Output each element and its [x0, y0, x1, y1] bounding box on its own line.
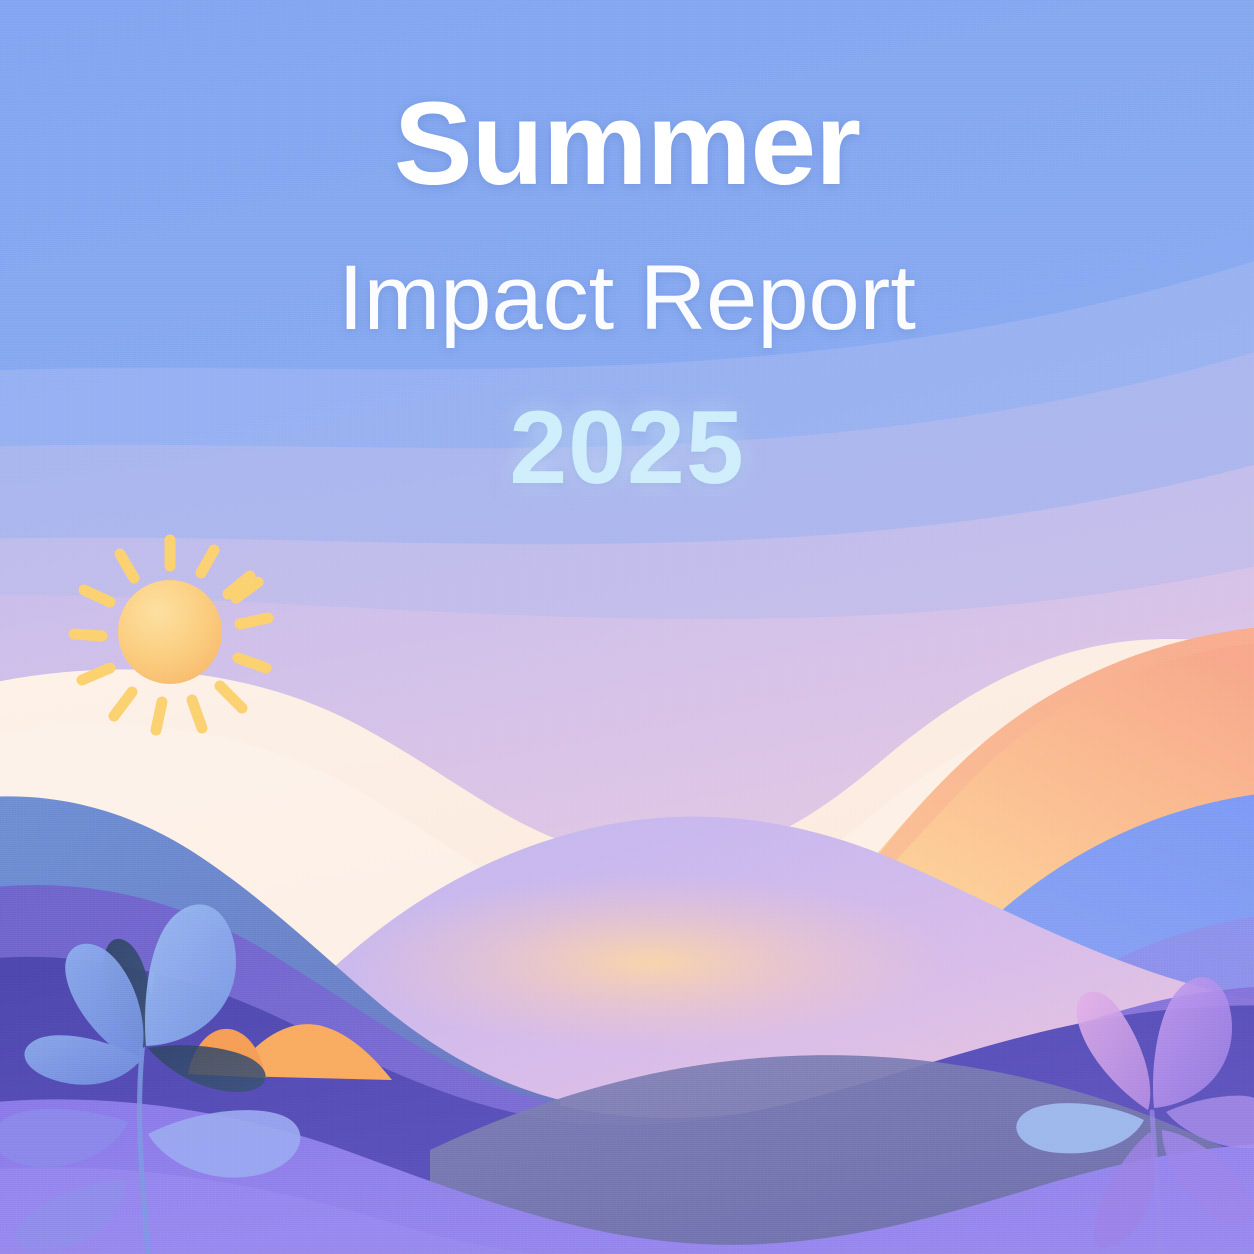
poster-canvas: Summer Impact Report 2025	[0, 0, 1254, 1254]
sun-ray	[156, 702, 162, 730]
sun-ray	[240, 618, 268, 624]
page-title-secondary: Impact Report	[0, 252, 1254, 344]
sun-disc	[118, 580, 222, 684]
sun-ray	[74, 634, 102, 636]
horizon-glow	[350, 874, 950, 1050]
page-title-primary: Summer	[0, 85, 1254, 203]
page-title-year: 2025	[0, 396, 1254, 500]
